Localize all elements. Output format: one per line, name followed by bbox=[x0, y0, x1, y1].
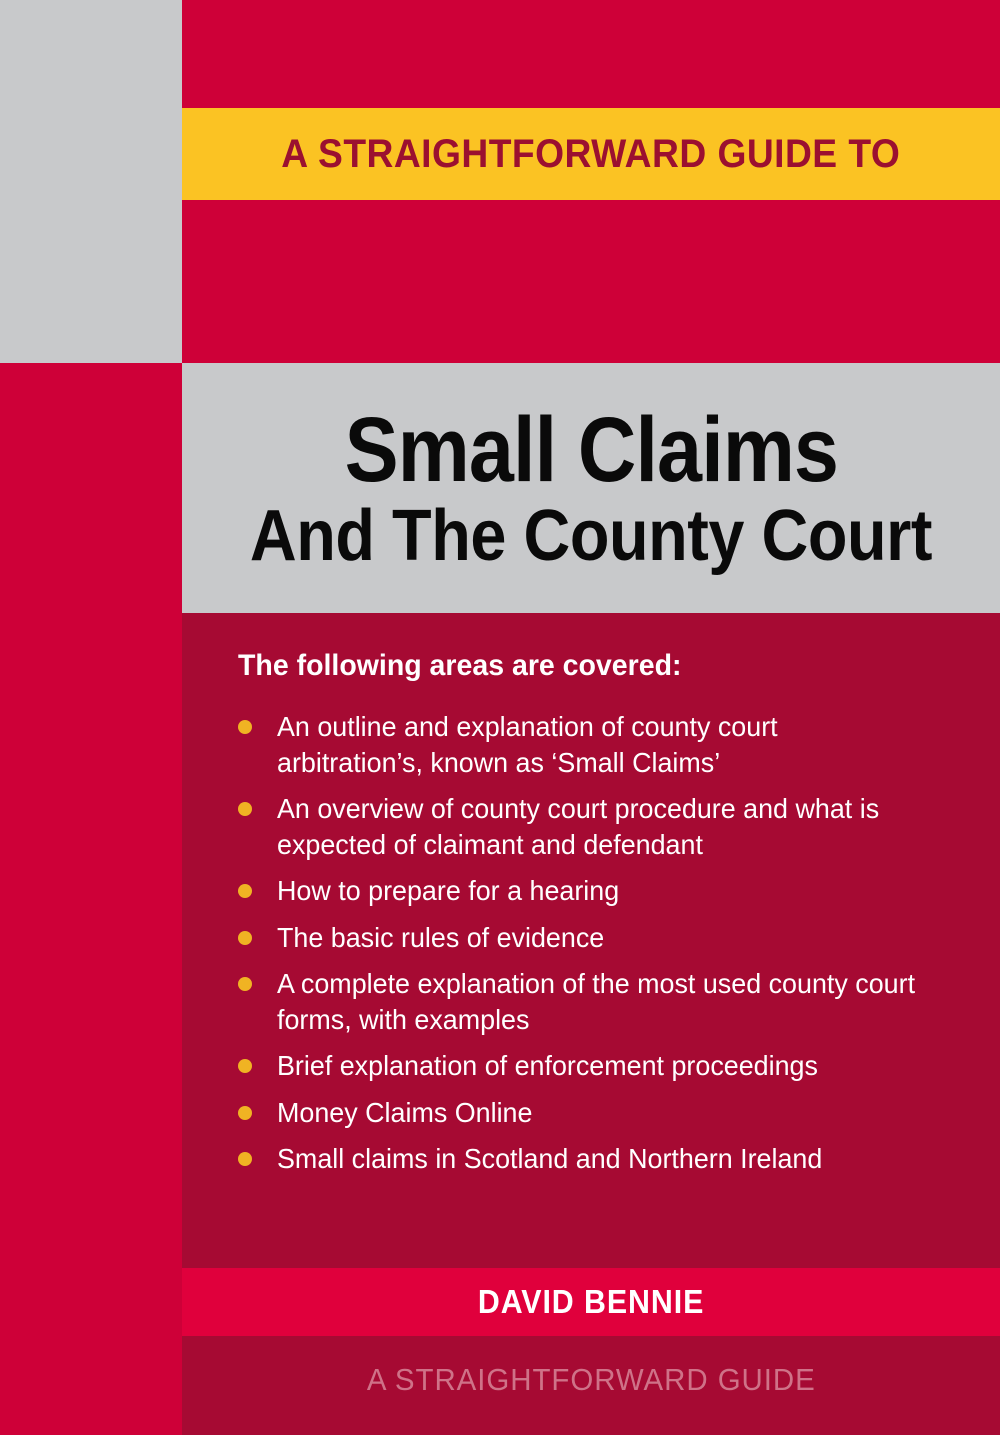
list-item-label: An outline and explanation of county cou… bbox=[277, 709, 917, 780]
spine-red-block bbox=[0, 363, 182, 1435]
bullet-dot-icon bbox=[238, 884, 252, 898]
list-item: Brief explanation of enforcement proceed… bbox=[238, 1048, 944, 1084]
list-item-label: Small claims in Scotland and Northern Ir… bbox=[277, 1141, 822, 1177]
series-banner-text: A STRAIGHTFORWARD GUIDE TO bbox=[281, 132, 900, 177]
list-item-label: Brief explanation of enforcement proceed… bbox=[277, 1048, 818, 1084]
footer-band: A STRAIGHTFORWARD GUIDE bbox=[182, 1336, 1000, 1435]
coverage-heading: The following areas are covered: bbox=[238, 649, 909, 683]
bullet-dot-icon bbox=[238, 720, 252, 734]
list-item-label: Money Claims Online bbox=[277, 1095, 532, 1131]
list-item: An outline and explanation of county cou… bbox=[238, 709, 944, 780]
coverage-panel: The following areas are covered: An outl… bbox=[182, 613, 1000, 1268]
list-item: A complete explanation of the most used … bbox=[238, 966, 944, 1037]
list-item: Money Claims Online bbox=[238, 1095, 944, 1131]
series-footer-text: A STRAIGHTFORWARD GUIDE bbox=[367, 1362, 816, 1398]
list-item-label: The basic rules of evidence bbox=[277, 920, 604, 956]
list-item: How to prepare for a hearing bbox=[238, 873, 944, 909]
bullet-dot-icon bbox=[238, 802, 252, 816]
bullet-dot-icon bbox=[238, 977, 252, 991]
bullet-dot-icon bbox=[238, 931, 252, 945]
series-banner: A STRAIGHTFORWARD GUIDE TO bbox=[182, 108, 1000, 200]
bullet-dot-icon bbox=[238, 1152, 252, 1166]
list-item: An overview of county court procedure an… bbox=[238, 791, 944, 862]
book-title-line-1: Small Claims bbox=[344, 404, 837, 496]
list-item: Small claims in Scotland and Northern Ir… bbox=[238, 1141, 944, 1177]
list-item: The basic rules of evidence bbox=[238, 920, 944, 956]
list-item-label: How to prepare for a hearing bbox=[277, 873, 619, 909]
author-name: DAVID BENNIE bbox=[478, 1283, 704, 1321]
title-panel: Small Claims And The County Court bbox=[182, 363, 1000, 613]
list-item-label: A complete explanation of the most used … bbox=[277, 966, 917, 1037]
bullet-dot-icon bbox=[238, 1106, 252, 1120]
author-band: DAVID BENNIE bbox=[182, 1268, 1000, 1336]
bullet-dot-icon bbox=[238, 1059, 252, 1073]
list-item-label: An overview of county court procedure an… bbox=[277, 791, 917, 862]
spine-gray-block bbox=[0, 0, 182, 363]
book-title-line-2: And The County Court bbox=[250, 500, 932, 572]
coverage-bullet-list: An outline and explanation of county cou… bbox=[238, 709, 944, 1177]
book-cover: A STRAIGHTFORWARD GUIDE TO Small Claims … bbox=[0, 0, 1000, 1435]
